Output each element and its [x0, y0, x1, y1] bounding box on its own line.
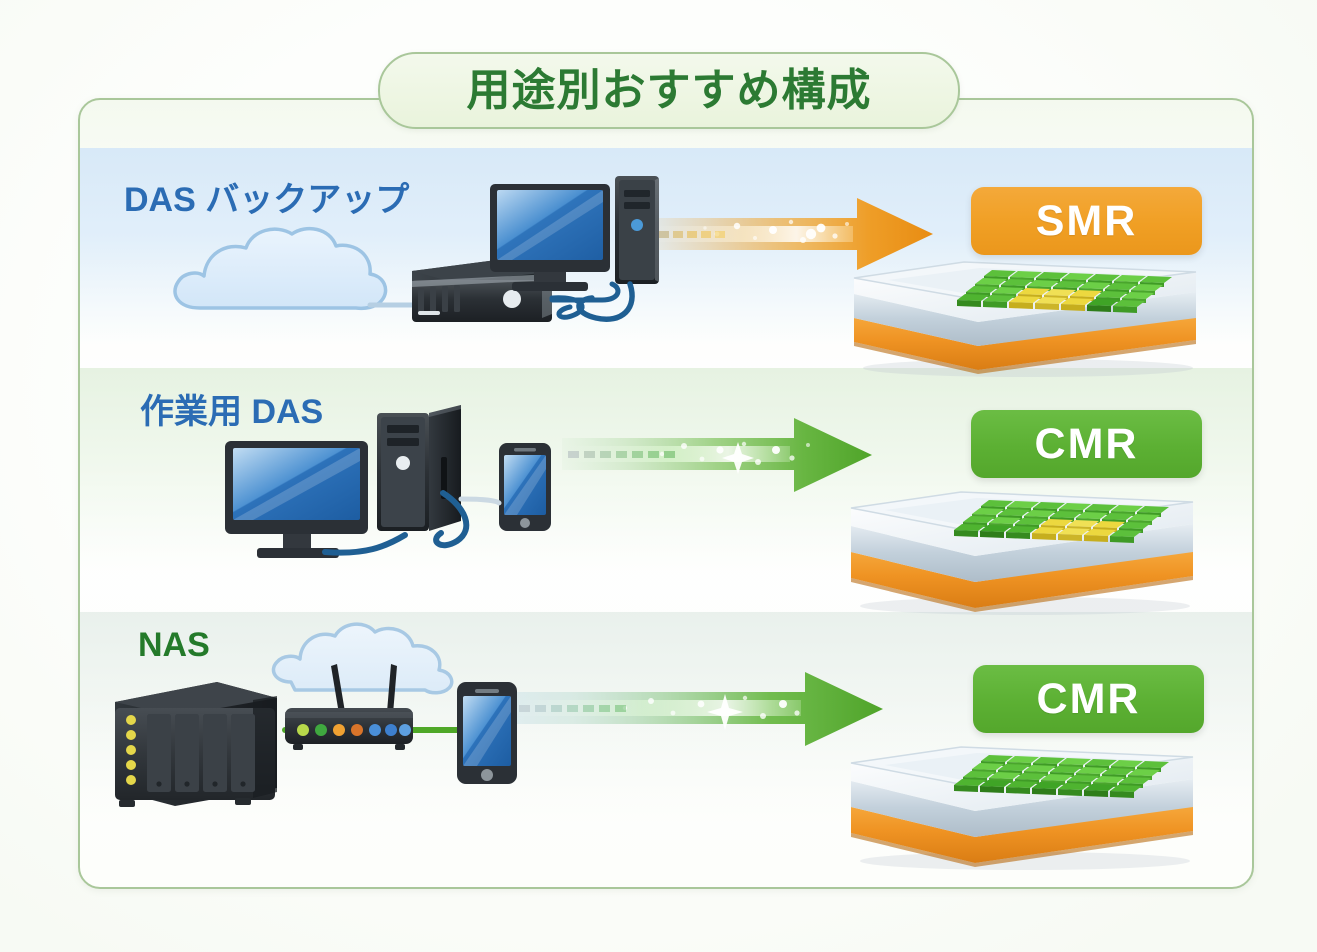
smartphone-icon: [457, 682, 517, 784]
result-badge-cmr-row3: CMR: [973, 665, 1204, 733]
smartphone-icon: [499, 443, 551, 531]
page-title: 用途別おすすめ構成: [467, 69, 872, 113]
cloud-icon: [175, 229, 386, 309]
result-badge-cmr-row2: CMR: [971, 410, 1202, 478]
monitor-icon: [225, 441, 368, 558]
disk-block-cmr-row3: [845, 733, 1205, 873]
cloud-icon: [273, 624, 451, 693]
title-badge: 用途別おすすめ構成: [378, 52, 960, 129]
nas-enclosure-icon: [115, 682, 277, 807]
result-badge-cmr-row3-label: CMR: [1037, 678, 1141, 721]
illustration-work-das: [215, 395, 565, 555]
illustration-das-backup: [160, 168, 680, 343]
disk-block-cmr-row2: [845, 478, 1205, 618]
result-badge-smr-label: SMR: [1036, 200, 1138, 243]
result-badge-smr: SMR: [971, 187, 1202, 255]
illustration-nas: [105, 620, 545, 810]
arrow-work-das-to-cmr: [562, 414, 874, 496]
arrow-nas-to-cmr: [505, 668, 885, 750]
diagram-canvas: 用途別おすすめ構成 DAS バックアップ 作業用 DAS NAS: [0, 0, 1317, 952]
pc-tower-icon: [377, 405, 461, 531]
disk-block-smr: [848, 256, 1208, 376]
result-badge-cmr-row2-label: CMR: [1035, 423, 1139, 466]
pc-tower-icon: [615, 176, 659, 284]
